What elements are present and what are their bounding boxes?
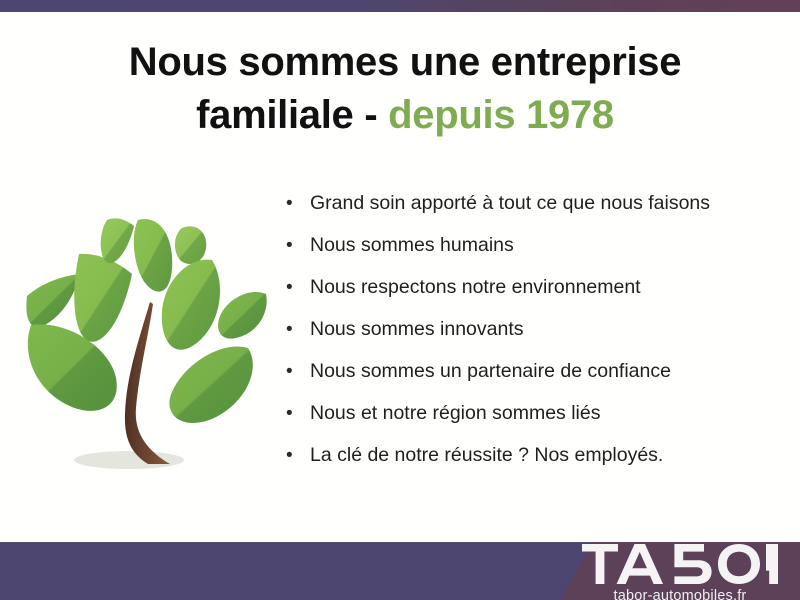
bullet-icon: •: [286, 404, 310, 423]
tree-illustration: [22, 192, 272, 492]
list-item-label: Nous sommes innovants: [310, 318, 524, 341]
list-item-label: Nous sommes humains: [310, 234, 514, 257]
list-item: • Nous respectons notre environnement: [286, 276, 766, 318]
page-title-line2-plain: familiale -: [196, 93, 388, 137]
list-item: • La clé de notre réussite ? Nos employé…: [286, 444, 766, 486]
list-item: • Nous et notre région sommes liés: [286, 402, 766, 444]
bullet-icon: •: [286, 194, 310, 213]
slide-canvas: Nous sommes une entreprise familiale - d…: [0, 0, 800, 600]
tabor-wordmark-icon: [582, 544, 778, 584]
brand-logo[interactable]: tabor-automobiles.fr: [560, 508, 800, 600]
page-title-line2: familiale - depuis 1978: [60, 89, 750, 142]
page-title-line1: Nous sommes une entreprise: [60, 36, 750, 89]
logo-url-label: tabor-automobiles.fr: [614, 588, 747, 600]
value-list: • Grand soin apporté à tout ce que nous …: [286, 192, 766, 486]
bullet-icon: •: [286, 278, 310, 297]
list-item: • Nous sommes innovants: [286, 318, 766, 360]
top-accent-bar: [0, 0, 800, 12]
list-item-label: Grand soin apporté à tout ce que nous fa…: [310, 192, 710, 215]
bullet-icon: •: [286, 236, 310, 255]
list-item: • Nous sommes un partenaire de confiance: [286, 360, 766, 402]
list-item: • Grand soin apporté à tout ce que nous …: [286, 192, 766, 234]
list-item-label: Nous respectons notre environnement: [310, 276, 641, 299]
list-item-label: Nous et notre région sommes liés: [310, 402, 600, 425]
bullet-icon: •: [286, 362, 310, 381]
page-title-line2-accent: depuis 1978: [388, 93, 614, 137]
list-item: • Nous sommes humains: [286, 234, 766, 276]
tree-shadow: [74, 451, 184, 469]
list-item-label: Nous sommes un partenaire de confiance: [310, 360, 671, 383]
bullet-icon: •: [286, 320, 310, 339]
page-title: Nous sommes une entreprise familiale - d…: [60, 36, 750, 142]
list-item-label: La clé de notre réussite ? Nos employés.: [310, 444, 663, 467]
bullet-icon: •: [286, 446, 310, 465]
